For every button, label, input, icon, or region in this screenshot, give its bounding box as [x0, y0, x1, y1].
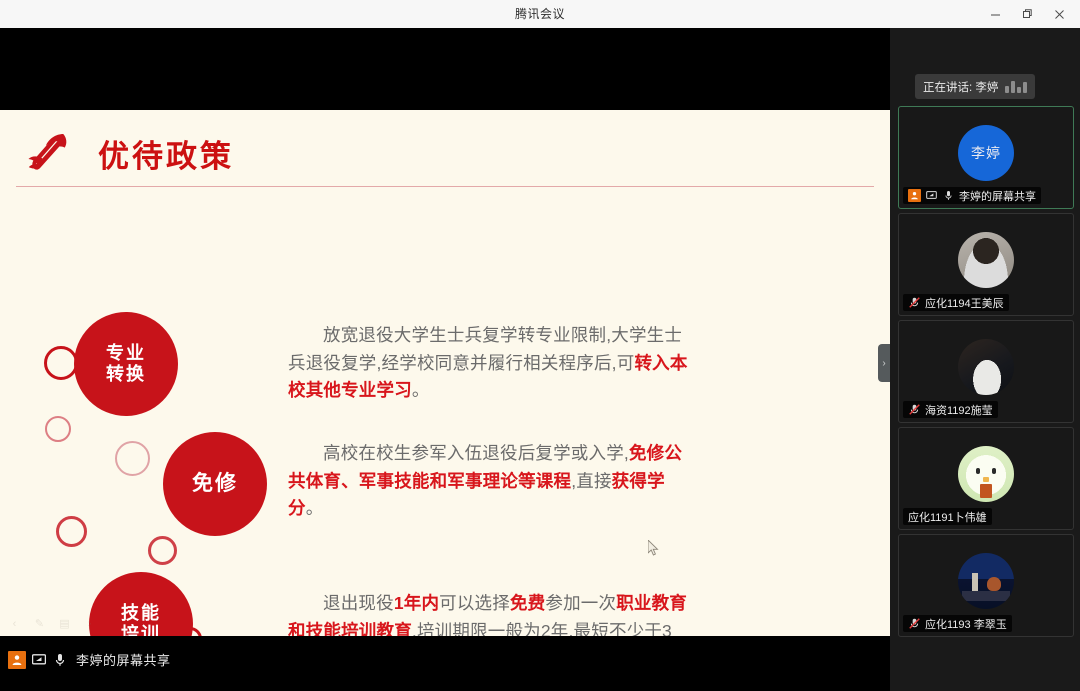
- screen-share-icon: [31, 652, 47, 668]
- title-bar: 腾讯会议: [0, 0, 1080, 29]
- pen-tool-icon[interactable]: ✎: [33, 618, 46, 630]
- participant-icon: [908, 189, 921, 202]
- participant-label: 应化1191卜伟雄: [903, 508, 992, 525]
- circle-line-2: 培训: [121, 624, 161, 636]
- panel-collapse-handle[interactable]: ›: [878, 344, 890, 382]
- avatar: [958, 446, 1014, 502]
- avatar: 李婷: [958, 125, 1014, 181]
- avatar: [958, 232, 1014, 288]
- paragraph-exemption: 高校在校生参军入伍退役后复学或入学,免修公共体育、军事技能和军事理论等课程,直接…: [288, 440, 688, 523]
- circle-line-1: 免修: [192, 472, 238, 497]
- participant-tile[interactable]: 应化1191卜伟雄: [898, 427, 1074, 530]
- prev-slide-icon[interactable]: ‹: [8, 618, 21, 630]
- participant-name: 海资1192施莹: [925, 402, 993, 418]
- participant-label: 海资1192施莹: [903, 401, 998, 418]
- participant-name: 李婷的屏幕共享: [959, 188, 1036, 204]
- decor-ring-2: [45, 416, 71, 442]
- circle-line-1: 技能: [121, 603, 161, 624]
- participant-panel: 正在讲话: 李婷 李婷: [890, 28, 1080, 691]
- participant-tiles: 李婷: [890, 106, 1080, 651]
- decor-ring-3: [115, 441, 150, 476]
- circle-line-2: 转换: [106, 364, 146, 385]
- microphone-icon: [52, 652, 68, 668]
- slide-header: 优待政策: [0, 110, 890, 182]
- participant-tile[interactable]: 应化1193 李翠玉: [898, 534, 1074, 637]
- participant-label: 应化1194王美辰: [903, 294, 1009, 311]
- participant-name: 应化1193 李翠玉: [925, 616, 1007, 632]
- microphone-muted-icon: [908, 403, 921, 416]
- slide-title: 优待政策: [98, 131, 234, 176]
- title-divider: [16, 186, 874, 187]
- share-status-bar: 李婷的屏幕共享: [0, 636, 890, 691]
- avatar: [958, 553, 1014, 609]
- participant-tile[interactable]: 海资1192施莹: [898, 320, 1074, 423]
- shared-screen-stage[interactable]: 优待政策 专业 转换 免修 技能 培训 放宽退役大学生士兵复学转专业限制,大学生…: [0, 28, 890, 691]
- audio-wave-icon: [1005, 80, 1027, 93]
- avatar: [958, 339, 1014, 395]
- next-slide-icon[interactable]: ›: [83, 618, 96, 630]
- circle-line-1: 专业: [106, 343, 146, 364]
- speaking-label: 正在讲话: 李婷: [923, 79, 998, 95]
- screen-share-icon: [925, 189, 938, 202]
- share-status-text: 李婷的屏幕共享: [76, 650, 171, 669]
- ppt-slideshow-controls[interactable]: ‹ ✎ ▤ ›: [8, 618, 96, 630]
- decor-ring-4: [56, 516, 87, 547]
- decor-ring-1: [44, 346, 78, 380]
- decor-ring-5: [148, 536, 177, 565]
- mouse-cursor: [648, 540, 660, 558]
- paragraph-skill-training: 退出现役1年内可以选择免费参加一次职业教育和技能培训教育,培训期限一般为2年,最…: [288, 590, 688, 636]
- speaking-indicator: 正在讲话: 李婷: [915, 74, 1035, 99]
- window-controls: [980, 0, 1074, 28]
- presentation-slide: 优待政策 专业 转换 免修 技能 培训 放宽退役大学生士兵复学转专业限制,大学生…: [0, 110, 890, 636]
- microphone-muted-icon: [908, 617, 921, 630]
- microphone-muted-icon: [908, 296, 921, 309]
- close-icon[interactable]: [1044, 2, 1074, 26]
- topic-circle-major-change: 专业 转换: [74, 312, 178, 416]
- maximize-icon[interactable]: [1012, 2, 1042, 26]
- minimize-icon[interactable]: [980, 2, 1010, 26]
- topic-circle-exemption: 免修: [163, 432, 267, 536]
- participant-label: 应化1193 李翠玉: [903, 615, 1012, 632]
- participant-label: 李婷的屏幕共享: [903, 187, 1041, 204]
- participant-name: 应化1194王美辰: [925, 295, 1004, 311]
- participant-tile[interactable]: 应化1194王美辰: [898, 213, 1074, 316]
- microphone-icon: [942, 189, 955, 202]
- participant-icon: [8, 651, 26, 669]
- app-title: 腾讯会议: [0, 0, 1080, 28]
- letterbox-top: [0, 28, 890, 110]
- slide-menu-icon[interactable]: ▤: [58, 618, 71, 630]
- paragraph-major-change: 放宽退役大学生士兵复学转专业限制,大学生士兵退役复学,经学校同意并履行相关程序后…: [288, 322, 688, 405]
- cpc-party-emblem-icon: [22, 126, 76, 176]
- topic-circle-skill-training: 技能 培训: [89, 572, 193, 636]
- participant-name: 应化1191卜伟雄: [908, 509, 987, 525]
- participant-tile[interactable]: 李婷: [898, 106, 1074, 209]
